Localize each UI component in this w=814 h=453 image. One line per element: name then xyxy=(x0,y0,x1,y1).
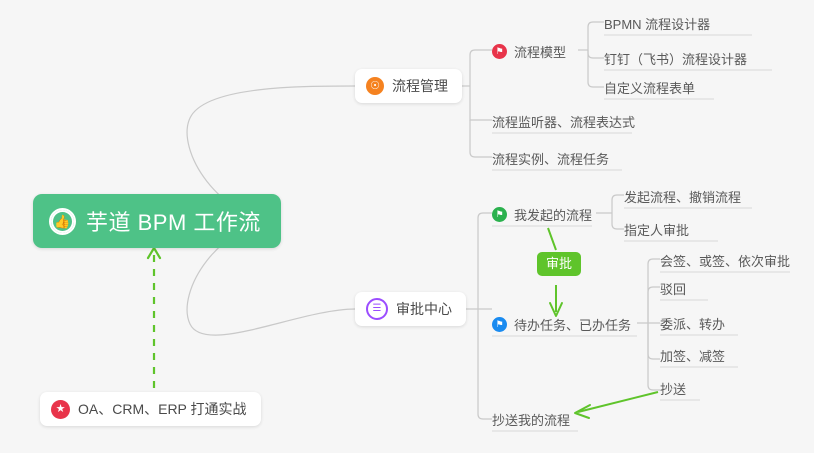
branch-node-process-management[interactable]: ☉ 流程管理 xyxy=(355,69,462,103)
leaf-label-add-remove-sign: 加签、减签 xyxy=(660,346,725,365)
node-cc-to-me[interactable]: 抄送我的流程 xyxy=(492,410,570,433)
node-label-process-model: 流程模型 xyxy=(514,42,566,61)
node-label-cc-to-me: 抄送我的流程 xyxy=(492,410,570,429)
node-process-model[interactable]: ⚑ 流程模型 xyxy=(492,42,566,65)
thumbs-up-glyph: 👍 xyxy=(54,215,70,228)
star-icon: ★ xyxy=(51,400,70,419)
flag-blue-icon: ⚑ xyxy=(492,317,507,332)
lightbulb-icon: ☉ xyxy=(366,77,384,95)
node-label-my-initiated: 我发起的流程 xyxy=(514,205,592,224)
leaf-add-remove-sign[interactable]: 加签、减签 xyxy=(660,346,725,369)
leaf-label-countersign: 会签、或签、依次审批 xyxy=(660,251,790,270)
leaf-label-reject: 驳回 xyxy=(660,279,686,298)
lightbulb-glyph: ☉ xyxy=(370,81,380,92)
leaf-countersign[interactable]: 会签、或签、依次审批 xyxy=(660,251,790,274)
node-label-process-listener: 流程监听器、流程表达式 xyxy=(492,112,635,131)
leaf-label-assignee-approval: 指定人审批 xyxy=(624,220,689,239)
clipboard-icon: ☰ xyxy=(366,298,388,320)
leaf-cc[interactable]: 抄送 xyxy=(660,379,686,402)
leaf-label-dingtalk-designer: 钉钉（飞书）流程设计器 xyxy=(604,49,747,68)
mindmap-canvas: 👍 芋道 BPM 工作流 ☉ 流程管理 ⚑ 流程模型 BPMN 流程设计器 钉钉… xyxy=(0,0,814,453)
leaf-reject[interactable]: 驳回 xyxy=(660,279,686,302)
flag-red-glyph: ⚑ xyxy=(495,47,503,56)
root-label: 芋道 BPM 工作流 xyxy=(86,205,261,237)
star-glyph: ★ xyxy=(56,404,66,415)
branch-label-approval-center: 审批中心 xyxy=(396,299,452,319)
flag-green-icon: ⚑ xyxy=(492,207,507,222)
branch-node-approval-center[interactable]: ☰ 审批中心 xyxy=(355,292,466,326)
leaf-label-cc: 抄送 xyxy=(660,379,686,398)
leaf-label-custom-form: 自定义流程表单 xyxy=(604,78,695,97)
leaf-delegate-transfer[interactable]: 委派、转办 xyxy=(660,314,725,337)
bottom-card-integration[interactable]: ★ OA、CRM、ERP 打通实战 xyxy=(40,392,261,426)
thumbs-up-icon: 👍 xyxy=(49,208,76,235)
node-my-initiated[interactable]: ⚑ 我发起的流程 xyxy=(492,205,592,228)
bottom-card-label: OA、CRM、ERP 打通实战 xyxy=(78,399,247,419)
leaf-label-delegate-transfer: 委派、转办 xyxy=(660,314,725,333)
branch-label-process-management: 流程管理 xyxy=(392,76,448,96)
node-process-listener[interactable]: 流程监听器、流程表达式 xyxy=(492,112,635,135)
flag-green-glyph: ⚑ xyxy=(495,210,503,219)
node-label-todo-done-tasks: 待办任务、已办任务 xyxy=(514,315,631,334)
approval-badge-label: 审批 xyxy=(546,256,572,271)
flag-blue-glyph: ⚑ xyxy=(495,320,503,329)
root-node[interactable]: 👍 芋道 BPM 工作流 xyxy=(33,194,281,248)
leaf-start-cancel-process[interactable]: 发起流程、撤销流程 xyxy=(624,187,741,210)
node-process-instance[interactable]: 流程实例、流程任务 xyxy=(492,149,609,172)
leaf-label-start-cancel-process: 发起流程、撤销流程 xyxy=(624,187,741,206)
clipboard-glyph: ☰ xyxy=(373,304,382,314)
leaf-assignee-approval[interactable]: 指定人审批 xyxy=(624,220,689,243)
leaf-custom-form[interactable]: 自定义流程表单 xyxy=(604,78,695,101)
node-label-process-instance: 流程实例、流程任务 xyxy=(492,149,609,168)
leaf-bpmn-designer[interactable]: BPMN 流程设计器 xyxy=(604,14,710,37)
approval-badge[interactable]: 审批 xyxy=(537,252,581,276)
leaf-dingtalk-designer[interactable]: 钉钉（飞书）流程设计器 xyxy=(604,49,747,72)
node-todo-done-tasks[interactable]: ⚑ 待办任务、已办任务 xyxy=(492,315,631,338)
leaf-label-bpmn-designer: BPMN 流程设计器 xyxy=(604,14,710,33)
flag-red-icon: ⚑ xyxy=(492,44,507,59)
